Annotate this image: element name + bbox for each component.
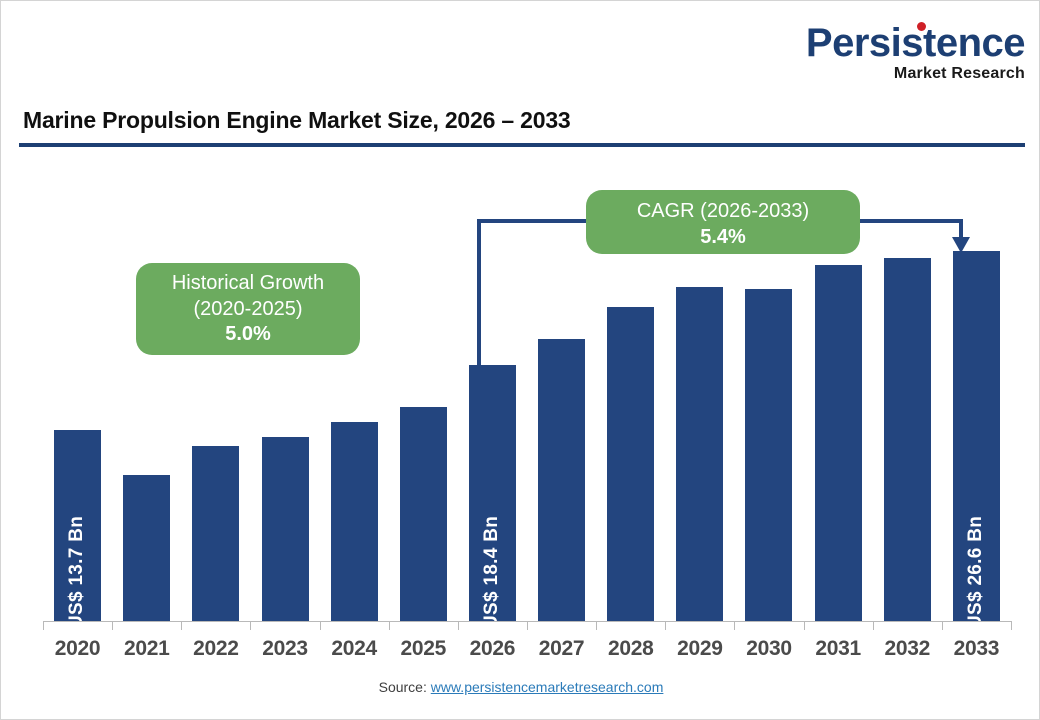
cagr-callout: CAGR (2026-2033) 5.4%	[586, 190, 860, 254]
chart-canvas: Persistence Market Research Marine Propu…	[0, 0, 1040, 720]
cagr-line1: CAGR (2026-2033)	[586, 199, 860, 225]
historical-growth-value: 5.0%	[136, 322, 360, 348]
cagr-connector-arrow	[1, 1, 1040, 720]
cagr-value: 5.4%	[586, 225, 860, 251]
historical-growth-line2: (2020-2025)	[136, 297, 360, 323]
historical-growth-callout: Historical Growth (2020-2025) 5.0%	[136, 263, 360, 355]
historical-growth-line1: Historical Growth	[136, 271, 360, 297]
